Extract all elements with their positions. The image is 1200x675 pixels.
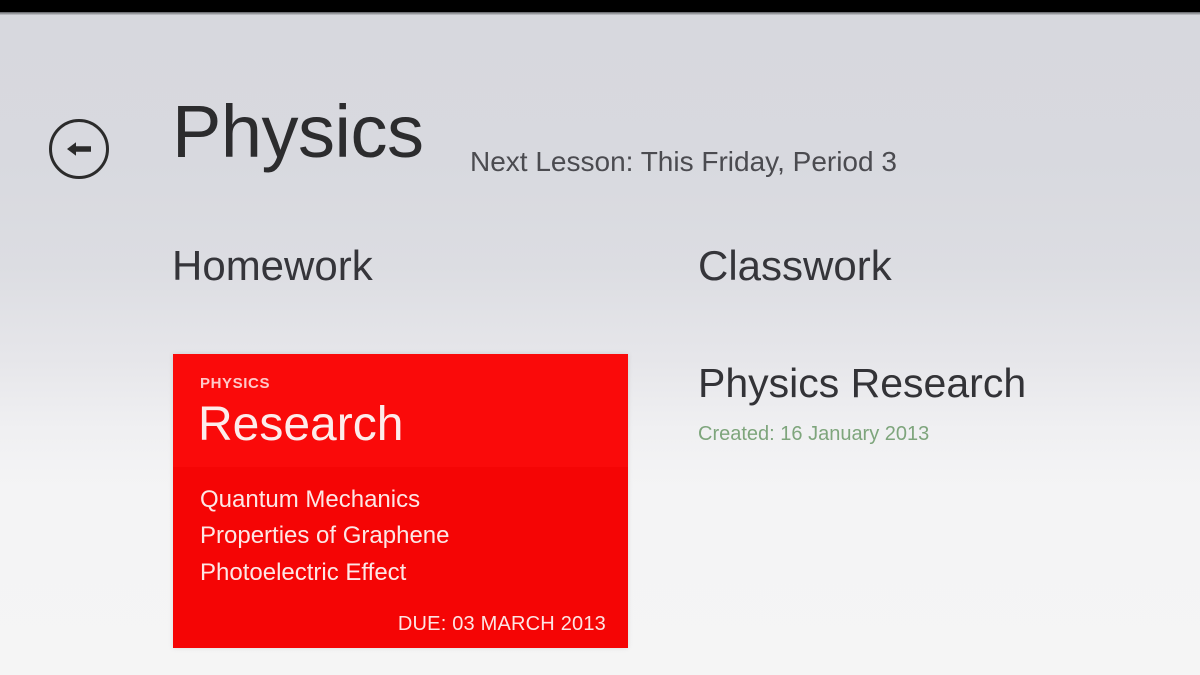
tile-title: Research	[198, 399, 403, 452]
tile-due-date: DUE: 03 MARCH 2013	[398, 614, 606, 634]
back-button[interactable]	[49, 119, 109, 179]
page-background: Physics Next Lesson: This Friday, Period…	[0, 15, 1200, 675]
tile-subject-label: PHYSICS	[200, 376, 270, 391]
next-lesson-text: Next Lesson: This Friday, Period 3	[470, 148, 897, 176]
list-item: Quantum Mechanics	[200, 482, 600, 518]
system-top-bar	[0, 0, 1200, 12]
classwork-item-created-date: Created: 16 January 2013	[698, 424, 1026, 444]
list-item: Photoelectric Effect	[200, 555, 600, 591]
homework-column-heading: Homework	[172, 245, 373, 287]
classwork-list-item[interactable]: Physics Research Created: 16 January 201…	[698, 363, 1026, 444]
page-title: Physics	[172, 95, 423, 169]
classwork-column-heading: Classwork	[698, 245, 892, 287]
classwork-item-title: Physics Research	[698, 363, 1026, 404]
list-item: Properties of Graphene	[200, 518, 600, 554]
app-window: Physics Next Lesson: This Friday, Period…	[0, 0, 1200, 675]
tile-task-list: Quantum Mechanics Properties of Graphene…	[200, 482, 600, 591]
homework-tile-research[interactable]: PHYSICS Research Quantum Mechanics Prope…	[173, 354, 628, 648]
